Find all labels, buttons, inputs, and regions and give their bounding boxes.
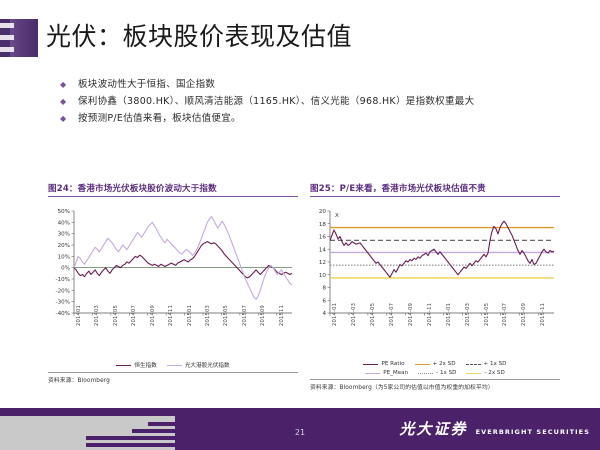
slide: 光伏：板块股价表现及估值 ◆ 板块波动性大于恒指、国企指数 ◆ 保利协鑫（380… bbox=[0, 0, 600, 450]
legend-label: PE Ratio bbox=[381, 361, 404, 367]
x-axis-tick-label: 201409 bbox=[150, 305, 156, 326]
legend-item: + 2x SD bbox=[415, 361, 456, 367]
bullet-item: ◆ 板块波动性大于恒指、国企指数 bbox=[60, 78, 580, 91]
svg-text:0%: 0% bbox=[61, 266, 70, 272]
bullet-list: ◆ 板块波动性大于恒指、国企指数 ◆ 保利协鑫（3800.HK）、顺风清洁能源（… bbox=[60, 78, 580, 129]
footer-step-1 bbox=[148, 422, 180, 426]
legend-label: - 2x SD bbox=[484, 370, 504, 376]
legend-swatch bbox=[167, 365, 182, 366]
legend-item: 恒生指数 bbox=[116, 361, 156, 369]
bullet-text: 按预测P/E估值来看，板块估值便宜。 bbox=[78, 112, 241, 125]
svg-text:40%: 40% bbox=[58, 220, 70, 226]
x-axis-tick-label: 2014-03 bbox=[351, 303, 357, 326]
chart-figure-25: 图25：P/E来看，香港市场光伏板块估值不贵 201816141210864X … bbox=[310, 182, 560, 391]
svg-text:20: 20 bbox=[319, 209, 327, 215]
slide-footer: 21 光大证券 EVERBRIGHT SECURITIES bbox=[0, 408, 600, 450]
legend-row: PE Ratio+ 2x SD+ 1x SD bbox=[310, 361, 560, 367]
legend-row: PE_Mean- 1x SD- 2x SD bbox=[310, 370, 560, 376]
x-axis-tick-label: 2014-07 bbox=[389, 303, 395, 326]
bullet-item: ◆ 保利协鑫（3800.HK）、顺风清洁能源（1165.HK）、信义光能（968… bbox=[60, 95, 580, 108]
svg-text:10: 10 bbox=[319, 273, 327, 279]
bullet-diamond-icon: ◆ bbox=[60, 95, 78, 108]
chart-figure-24: 图24：香港市场光伏板块股价波动大于指数 50%40%30%20%10%0%-1… bbox=[48, 182, 298, 384]
svg-text:8: 8 bbox=[322, 286, 326, 292]
bullet-diamond-icon: ◆ bbox=[60, 78, 78, 91]
x-axis-tick-label: 2015-09 bbox=[521, 303, 527, 326]
legend-label: 光大港股光伏指数 bbox=[185, 361, 230, 369]
x-axis-labels: 2014012014032014052014072014092014112015… bbox=[48, 325, 298, 357]
x-axis-tick-label: 201507 bbox=[242, 305, 248, 326]
svg-text:12: 12 bbox=[319, 260, 326, 266]
legend-swatch bbox=[415, 364, 430, 365]
x-axis-tick-label: 2015-01 bbox=[446, 303, 452, 326]
x-axis-tick-label: 201503 bbox=[205, 305, 211, 326]
x-axis-tick-label: 2015-07 bbox=[502, 303, 508, 326]
legend-swatch bbox=[363, 364, 378, 365]
svg-text:20%: 20% bbox=[58, 243, 70, 249]
bullet-item: ◆ 按预测P/E估值来看，板块估值便宜。 bbox=[60, 112, 580, 125]
svg-text:-10%: -10% bbox=[56, 277, 70, 283]
legend-swatch bbox=[116, 365, 131, 366]
chart-legend: PE Ratio+ 2x SD+ 1x SDPE_Mean- 1x SD- 2x… bbox=[310, 361, 560, 376]
svg-text:-30%: -30% bbox=[56, 300, 70, 306]
logo-chinese-name: 光大证券 bbox=[400, 418, 468, 439]
chart-title: 图25：P/E来看，香港市场光伏板块估值不贵 bbox=[310, 182, 560, 197]
chart-legend: 恒生指数光大港股光伏指数 bbox=[48, 361, 298, 369]
bullet-text: 保利协鑫（3800.HK）、顺风清洁能源（1165.HK）、信义光能（968.H… bbox=[78, 95, 474, 108]
x-axis-tick-label: 201411 bbox=[168, 305, 174, 326]
x-axis-tick-label: 2015-05 bbox=[484, 303, 490, 326]
x-axis-labels: 2014-012014-032014-052014-072014-092014-… bbox=[310, 325, 560, 357]
chart-source-note: 资料来源：Bloomberg（为5家公司的估值以市值为权重的加权平均） bbox=[310, 379, 560, 391]
x-axis-tick-label: 2014-05 bbox=[370, 303, 376, 326]
legend-row: 恒生指数光大港股光伏指数 bbox=[48, 361, 298, 369]
x-axis-tick-label: 2014-01 bbox=[332, 303, 338, 326]
svg-text:50%: 50% bbox=[58, 209, 70, 215]
svg-text:14: 14 bbox=[319, 247, 327, 253]
x-axis-tick-label: 201501 bbox=[187, 305, 193, 326]
x-axis-tick-label: 2014-11 bbox=[427, 303, 433, 326]
footer-step-4 bbox=[86, 443, 180, 447]
chart-title: 图24：香港市场光伏板块股价波动大于指数 bbox=[48, 182, 298, 197]
slide-header: 光伏：板块股价表现及估值 bbox=[0, 19, 600, 57]
logo-english-name: EVERBRIGHT SECURITIES bbox=[476, 428, 590, 436]
legend-item: - 1x SD bbox=[418, 370, 456, 376]
x-axis-tick-label: 201505 bbox=[223, 305, 229, 326]
legend-item: 光大港股光伏指数 bbox=[167, 361, 230, 369]
x-axis-tick-label: 2014-09 bbox=[408, 303, 414, 326]
x-axis-tick-label: 201401 bbox=[76, 305, 82, 326]
legend-label: 恒生指数 bbox=[134, 361, 156, 369]
svg-text:4: 4 bbox=[322, 311, 326, 317]
svg-text:30%: 30% bbox=[58, 232, 70, 238]
x-axis-tick-label: 201403 bbox=[94, 305, 100, 326]
legend-item: + 1x SD bbox=[466, 361, 507, 367]
legend-swatch bbox=[466, 364, 481, 365]
svg-text:6: 6 bbox=[322, 298, 326, 304]
svg-text:-40%: -40% bbox=[56, 311, 70, 317]
svg-text:18: 18 bbox=[319, 222, 327, 228]
legend-label: + 2x SD bbox=[433, 361, 456, 367]
x-axis-tick-label: 201405 bbox=[113, 305, 119, 326]
x-axis-tick-label: 201511 bbox=[279, 305, 285, 326]
company-logo: 光大证券 EVERBRIGHT SECURITIES bbox=[400, 418, 590, 439]
chart-source-note: 资料来源：Bloomberg bbox=[48, 372, 298, 384]
legend-label: - 1x SD bbox=[436, 370, 456, 376]
header-accent-mark bbox=[0, 19, 38, 57]
svg-text:X: X bbox=[335, 213, 339, 219]
page-title: 光伏：板块股价表现及估值 bbox=[46, 17, 352, 53]
svg-text:16: 16 bbox=[319, 235, 327, 241]
x-axis-tick-label: 2015-11 bbox=[540, 303, 546, 326]
legend-swatch bbox=[466, 373, 481, 374]
legend-label: + 1x SD bbox=[484, 361, 507, 367]
x-axis-tick-label: 201509 bbox=[260, 305, 266, 326]
svg-text:-20%: -20% bbox=[56, 288, 70, 294]
x-axis-tick-label: 201407 bbox=[131, 305, 137, 326]
legend-swatch bbox=[365, 373, 380, 374]
legend-item: PE_Mean bbox=[365, 370, 408, 376]
legend-swatch bbox=[418, 373, 433, 374]
x-axis-tick-label: 2015-03 bbox=[465, 303, 471, 326]
bullet-text: 板块波动性大于恒指、国企指数 bbox=[78, 78, 215, 91]
legend-item: - 2x SD bbox=[466, 370, 504, 376]
legend-label: PE_Mean bbox=[383, 370, 408, 376]
legend-item: PE Ratio bbox=[363, 361, 404, 367]
bullet-diamond-icon: ◆ bbox=[60, 112, 78, 125]
svg-text:10%: 10% bbox=[58, 254, 70, 260]
